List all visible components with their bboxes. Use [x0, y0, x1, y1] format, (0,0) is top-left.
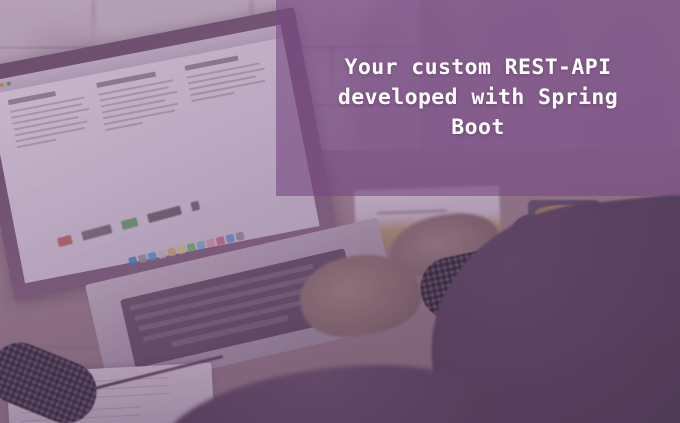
- service-banner: Your custom REST-APIdeveloped with Sprin…: [0, 0, 680, 423]
- client-logo-row: [57, 201, 200, 247]
- logo-complex: [147, 206, 182, 223]
- banner-title: Your custom REST-APIdeveloped with Sprin…: [338, 53, 618, 143]
- logo-techcrunch: [121, 217, 139, 230]
- logo-misc: [190, 201, 200, 212]
- webpage-column: [96, 68, 183, 135]
- title-overlay-box: Your custom REST-APIdeveloped with Sprin…: [276, 0, 680, 196]
- webpage-column: [8, 85, 95, 152]
- logo-gq: [57, 235, 73, 247]
- webpage-column: [185, 51, 269, 106]
- logo-esquire: [81, 224, 112, 240]
